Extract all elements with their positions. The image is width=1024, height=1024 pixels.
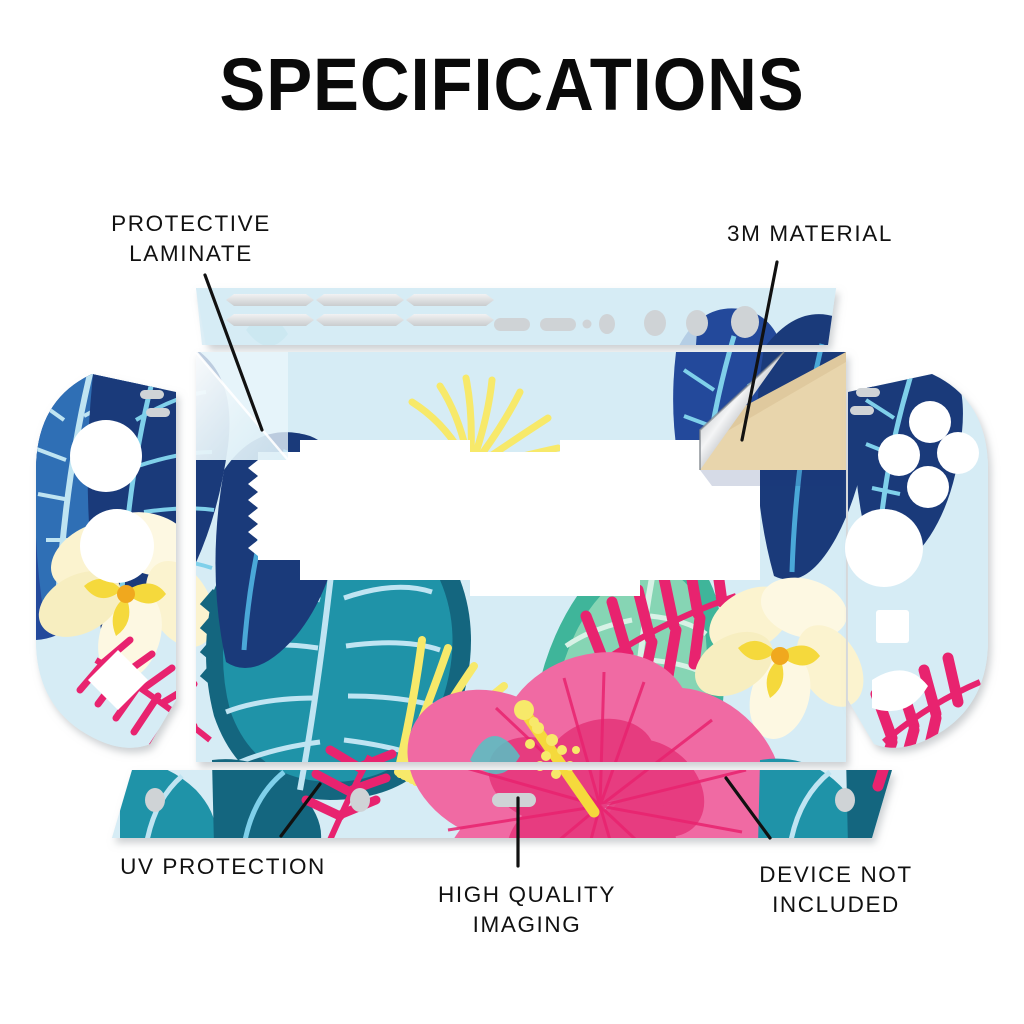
- callout-uv-protection: UV PROTECTION: [48, 852, 398, 882]
- callout-high-quality-imaging: HIGH QUALITY IMAGING: [377, 880, 677, 939]
- leader-protective-laminate: [205, 275, 262, 430]
- callout-3m-material: 3M MATERIAL: [640, 219, 980, 249]
- leader-3m-material: [742, 262, 777, 440]
- callout-device-not-included: DEVICE NOT INCLUDED: [676, 860, 996, 919]
- specifications-graphic: SPECIFICATIONS: [0, 0, 1024, 1024]
- callout-protective-laminate: PROTECTIVE LAMINATE: [36, 209, 346, 268]
- leader-device-not-included: [726, 778, 770, 838]
- leader-uv-protection: [281, 784, 320, 836]
